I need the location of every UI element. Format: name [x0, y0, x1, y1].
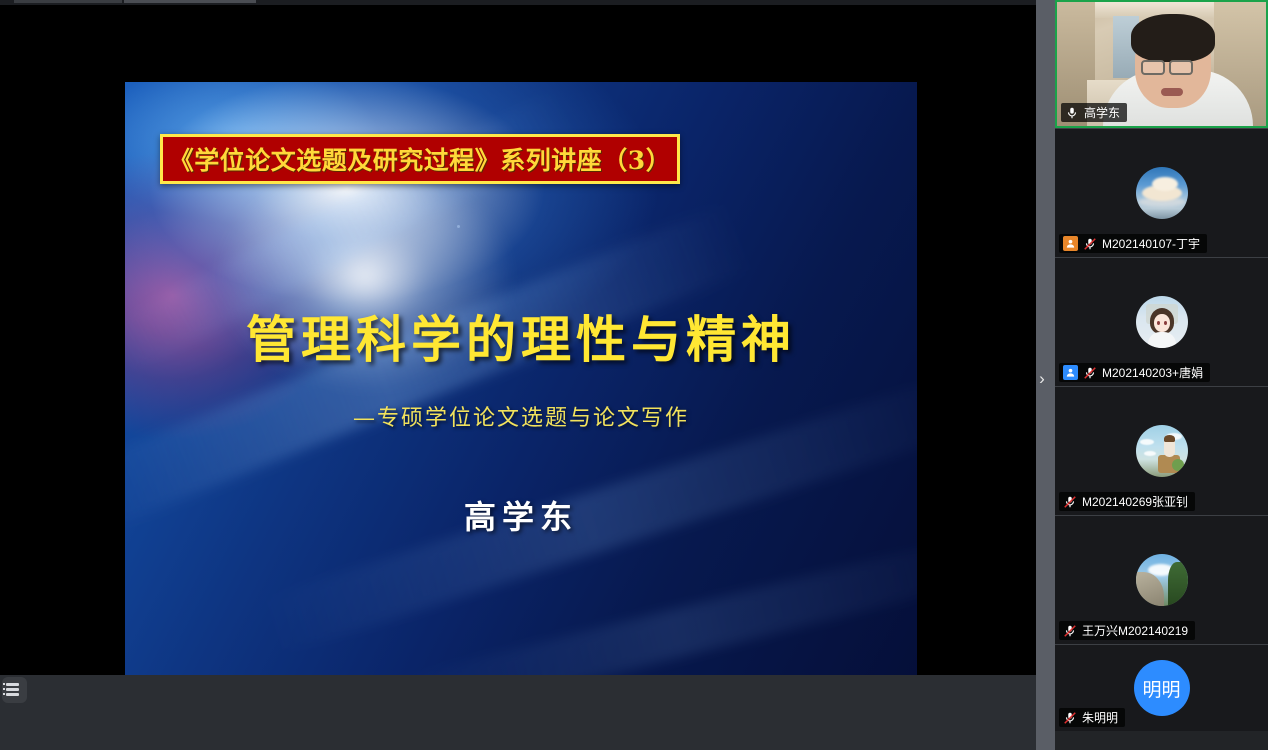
menu-bullet	[3, 688, 5, 690]
slide-cursor-dot	[457, 225, 460, 228]
menu-line	[6, 693, 19, 696]
participant-name: M202140269张亚钊	[1082, 493, 1188, 510]
participant-name: 高学东	[1084, 104, 1120, 121]
microphone-muted-icon	[1083, 237, 1097, 251]
shared-screen-stage[interactable]: 《学位论文选题及研究过程》系列讲座（3） 管理科学的理性与精神 —专硕学位论文选…	[0, 5, 1038, 675]
list-menu-icon[interactable]	[2, 677, 27, 703]
menu-bullet	[3, 683, 5, 685]
participant-tile[interactable]: 明明 朱明明	[1055, 645, 1268, 731]
participant-name: 王万兴M202140219	[1082, 622, 1188, 639]
menu-line	[6, 688, 19, 691]
avatar	[1136, 167, 1188, 219]
participant-tile[interactable]: M202140269张亚钊	[1055, 387, 1268, 515]
slide-subtitle: —专硕学位论文选题与论文写作	[125, 400, 917, 432]
chevron-right-icon[interactable]: ›	[1034, 368, 1050, 390]
top-strip-segment-right	[124, 0, 256, 3]
participant-tile-active-speaker[interactable]: 高学东	[1055, 0, 1268, 128]
menu-bullet	[3, 693, 5, 695]
participant-name: M202140203+唐娟	[1102, 364, 1203, 381]
participant-tile[interactable]: M202140203+唐娟	[1055, 258, 1268, 386]
slide-title: 管理科学的理性与精神	[125, 300, 917, 372]
avatar	[1136, 554, 1188, 606]
participant-tile[interactable]: 王万兴M202140219	[1055, 516, 1268, 644]
participant-name-tag: M202140203+唐娟	[1059, 363, 1210, 382]
microphone-muted-icon	[1063, 711, 1077, 725]
slide-presenter-name: 高学东	[125, 492, 917, 538]
slide-series-banner: 《学位论文选题及研究过程》系列讲座（3）	[160, 134, 680, 184]
participant-name: 朱明明	[1082, 709, 1118, 726]
participant-tile[interactable]: M202140107-丁宇	[1055, 129, 1268, 257]
participant-name: M202140107-丁宇	[1102, 235, 1200, 252]
person-icon	[1063, 365, 1078, 380]
avatar	[1136, 296, 1188, 348]
presentation-slide[interactable]: 《学位论文选题及研究过程》系列讲座（3） 管理科学的理性与精神 —专硕学位论文选…	[125, 82, 917, 675]
participant-filmstrip[interactable]: 高学东 M202140107-丁宇	[1055, 0, 1268, 750]
microphone-icon	[1065, 106, 1079, 120]
conference-window: 《学位论文选题及研究过程》系列讲座（3） 管理科学的理性与精神 —专硕学位论文选…	[0, 0, 1268, 750]
participant-name-tag: 朱明明	[1059, 708, 1125, 727]
avatar-initials: 明明	[1134, 660, 1190, 716]
menu-line	[6, 683, 19, 686]
slide-series-banner-text: 《学位论文选题及研究过程》系列讲座（3）	[169, 141, 671, 177]
microphone-muted-icon	[1063, 495, 1077, 509]
participant-name-tag: 王万兴M202140219	[1059, 621, 1195, 640]
participant-name-tag: 高学东	[1061, 103, 1127, 122]
person-icon	[1063, 236, 1078, 251]
bottom-toolbar	[0, 675, 1038, 750]
top-strip-segment-left	[14, 0, 122, 3]
microphone-muted-icon	[1083, 366, 1097, 380]
avatar	[1136, 425, 1188, 477]
participant-name-tag: M202140107-丁宇	[1059, 234, 1207, 253]
participant-name-tag: M202140269张亚钊	[1059, 492, 1195, 511]
microphone-muted-icon	[1063, 624, 1077, 638]
